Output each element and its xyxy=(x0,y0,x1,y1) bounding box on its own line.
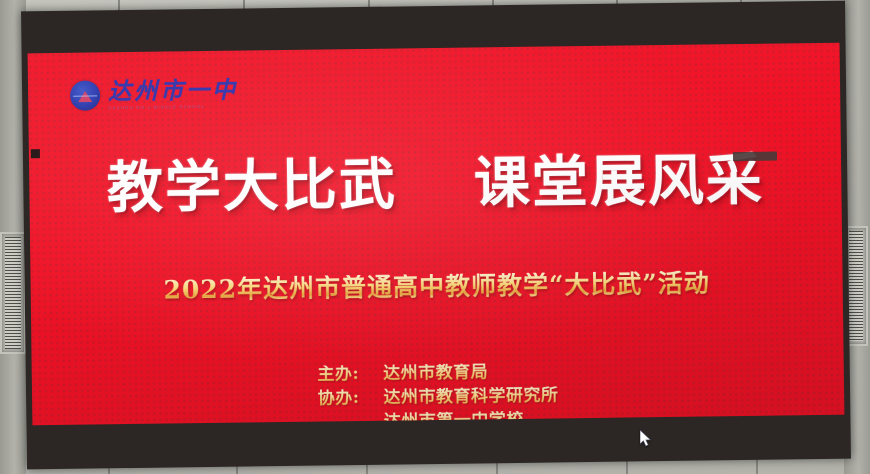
slide-title-part1: 教学大比武 xyxy=(106,152,397,222)
organizer-label-cohost: 协办: xyxy=(318,389,360,409)
air-vent-left xyxy=(0,232,26,354)
organizer-value-host: 达州市教育局 xyxy=(383,362,558,383)
organizer-value-cohost-1: 达州市教育科学研究所 xyxy=(383,386,558,407)
school-logo-text: 达州市一中 DAZHOU NO.1 MIDDLE SCHOOL xyxy=(108,79,238,111)
slide-main-title: 教学大比武 课堂展风采 xyxy=(29,151,842,218)
dead-pixel-dot-left-edge-icon xyxy=(31,149,40,158)
slide-title-part2: 课堂展风采 xyxy=(473,147,764,217)
led-screen-surface[interactable]: 达州市一中 DAZHOU NO.1 MIDDLE SCHOOL 教学大比武 课堂… xyxy=(28,43,845,426)
led-video-wall[interactable]: 达州市一中 DAZHOU NO.1 MIDDLE SCHOOL 教学大比武 课堂… xyxy=(21,1,851,470)
slide-subtitle: 2022年达州市普通高中教师教学“大比武”活动 xyxy=(31,269,843,305)
screenshot-root: 达州市一中 DAZHOU NO.1 MIDDLE SCHOOL 教学大比武 课堂… xyxy=(0,0,870,474)
mouse-cursor-icon xyxy=(640,430,652,448)
organizer-block: 主办: 达州市教育局 协办: 达州市教育科学研究所 达州市第一中学校 xyxy=(32,359,845,426)
slide-content: 达州市一中 DAZHOU NO.1 MIDDLE SCHOOL 教学大比武 课堂… xyxy=(28,43,845,426)
school-name-latin: DAZHOU NO.1 MIDDLE SCHOOL xyxy=(108,105,238,111)
dead-pixel-bar-top-right-icon xyxy=(733,152,777,162)
school-crest-emblem-icon xyxy=(70,81,100,111)
organizer-label-host: 主办: xyxy=(317,365,359,385)
school-name-chinese: 达州市一中 xyxy=(108,79,238,104)
school-logo: 达州市一中 DAZHOU NO.1 MIDDLE SCHOOL xyxy=(70,79,238,112)
